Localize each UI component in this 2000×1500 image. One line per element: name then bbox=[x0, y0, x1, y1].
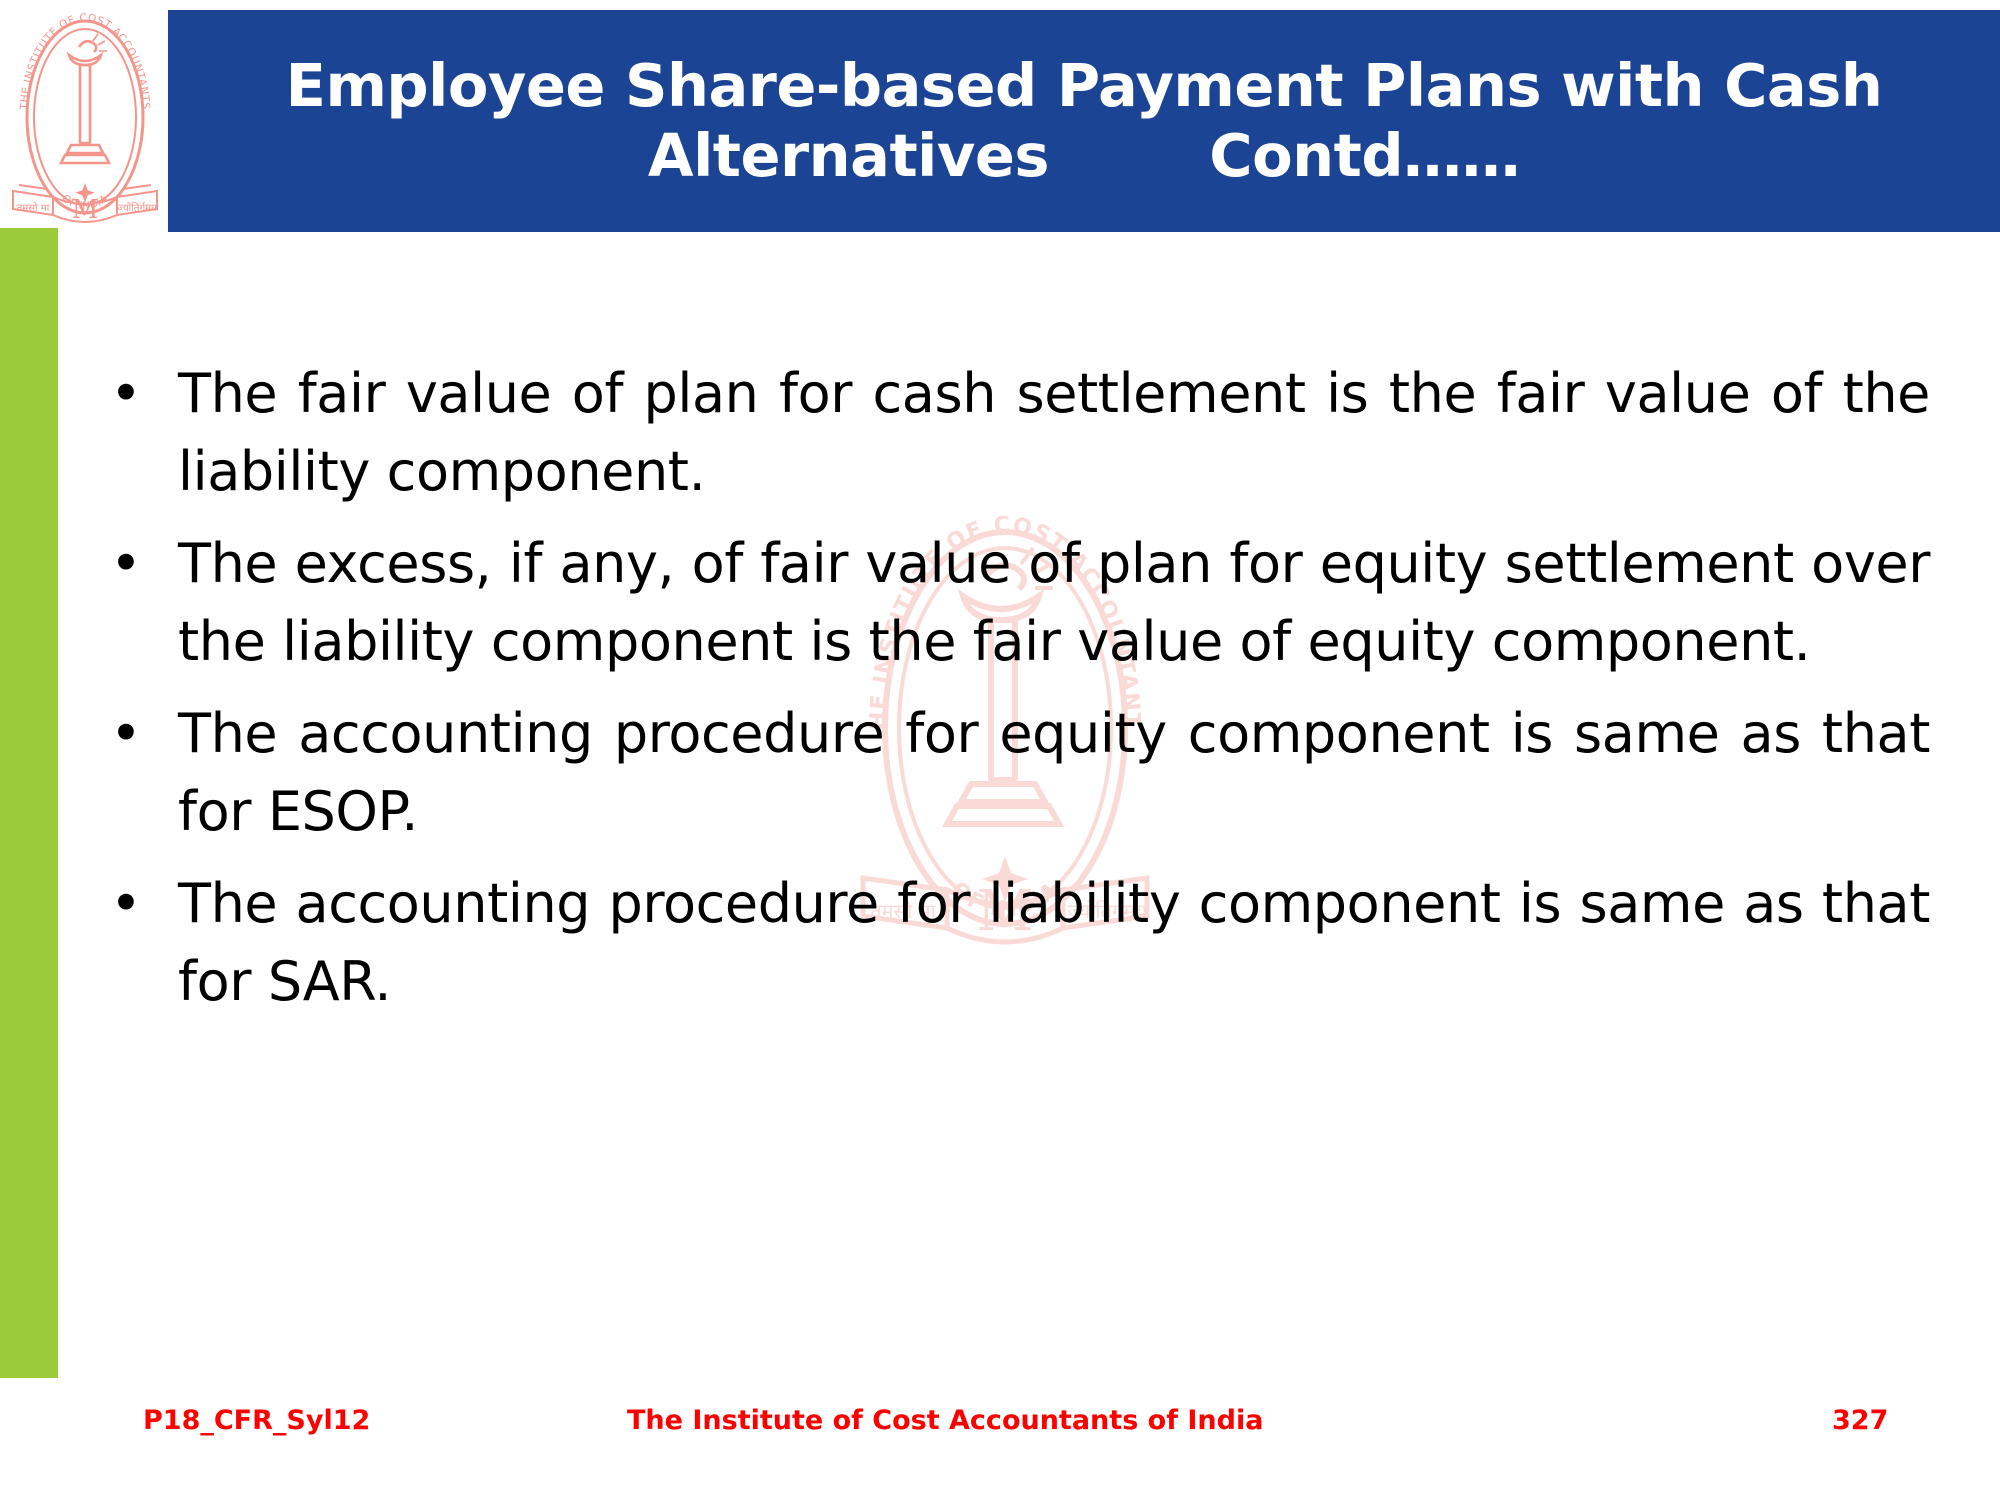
logo-motto-right: ज्योतिर्गमय bbox=[117, 202, 157, 214]
footer-page-number: 327 bbox=[1832, 1405, 1888, 1436]
page-title: Employee Share-based Payment Plans with … bbox=[244, 51, 1924, 190]
slide-header-banner: Employee Share-based Payment Plans with … bbox=[168, 10, 2000, 232]
bullet-marker: • bbox=[100, 865, 178, 943]
footer-subject-code: P18_CFR_Syl12 bbox=[143, 1405, 370, 1436]
list-item: • The fair value of plan for cash settle… bbox=[100, 355, 1930, 511]
bullet-marker: • bbox=[100, 355, 178, 433]
icai-logo: THE INSTITUTE OF COST ACCOUNTANTS OF IND… bbox=[5, 5, 165, 227]
bullet-marker: • bbox=[100, 695, 178, 773]
left-accent-stripe bbox=[0, 228, 58, 1378]
list-item-text: The fair value of plan for cash settleme… bbox=[178, 355, 1930, 511]
footer-organization: The Institute of Cost Accountants of Ind… bbox=[627, 1405, 1263, 1436]
slide-body: • The fair value of plan for cash settle… bbox=[100, 355, 1930, 1035]
list-item-text: The excess, if any, of fair value of pla… bbox=[178, 525, 1930, 681]
list-item-text: The accounting procedure for equity comp… bbox=[178, 695, 1930, 851]
list-item: • The accounting procedure for equity co… bbox=[100, 695, 1930, 851]
logo-monogram: M bbox=[72, 195, 99, 225]
logo-motto-left: तमसो मा bbox=[17, 202, 50, 214]
list-item: • The accounting procedure for liability… bbox=[100, 865, 1930, 1021]
bullet-marker: • bbox=[100, 525, 178, 603]
list-item-text: The accounting procedure for liability c… bbox=[178, 865, 1930, 1021]
list-item: • The excess, if any, of fair value of p… bbox=[100, 525, 1930, 681]
slide-footer: P18_CFR_Syl12 The Institute of Cost Acco… bbox=[0, 1405, 2000, 1455]
